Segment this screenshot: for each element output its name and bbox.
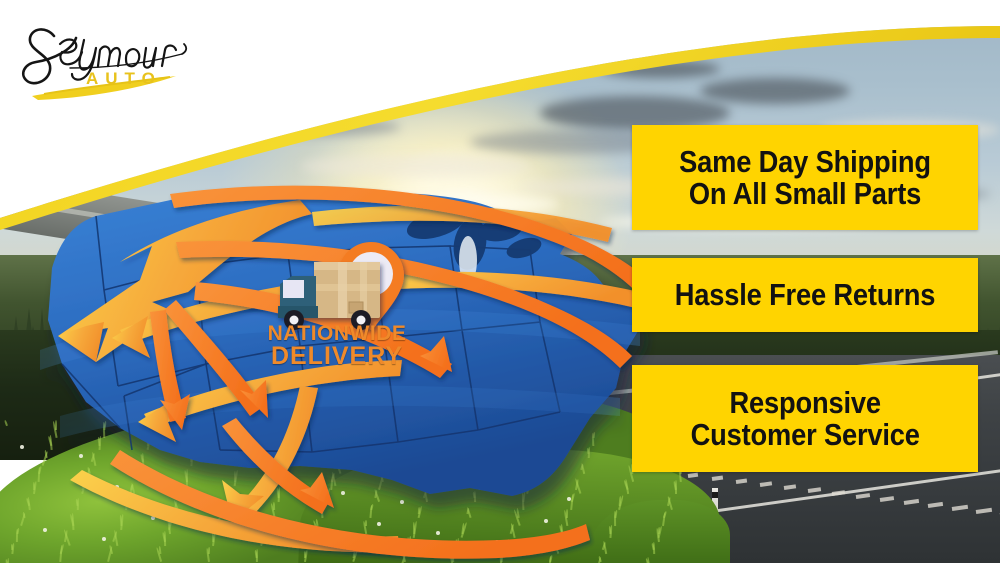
callout-3-line-2: Customer Service [690,419,919,451]
brand-sub-label: AUTO [86,69,162,89]
callout-1-line-2: On All Small Parts [679,178,931,210]
nationwide-delivery-line1: NATIONWIDE [262,323,412,344]
nationwide-delivery-label: NATIONWIDE DELIVERY [262,323,412,370]
callout-2-line-1: Hassle Free Returns [675,279,935,311]
cloud [250,118,400,136]
nationwide-delivery-line2: DELIVERY [262,344,412,370]
callout-box-responsive-customer-service[interactable]: Responsive Customer Service [632,365,978,472]
delivery-truck-icon [278,262,380,330]
promo-banner: (function(){ var host = document.current… [0,0,1000,563]
callout-box-hassle-free-returns[interactable]: Hassle Free Returns [632,258,978,332]
callout-3-line-1: Responsive [690,387,919,419]
cloud [700,78,850,104]
callout-box-same-day-shipping[interactable]: Same Day Shipping On All Small Parts [632,125,978,230]
brand-logo[interactable]: AUTO [14,14,214,102]
callout-1-line-1: Same Day Shipping [679,146,931,178]
cloud [600,60,720,78]
